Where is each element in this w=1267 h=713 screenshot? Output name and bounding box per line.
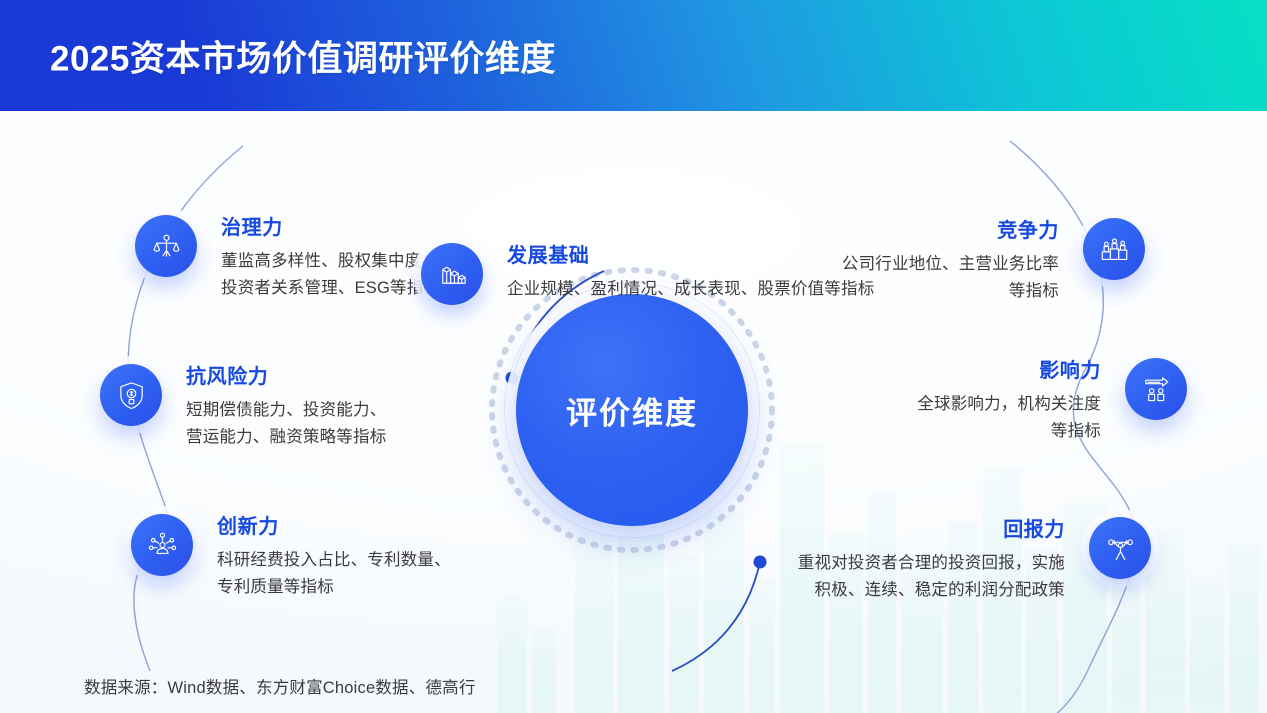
data-source-note: 数据来源：Wind数据、东方财富Choice数据、德高行 xyxy=(84,674,476,698)
node-text-influence: 影响力 全球影响力，机构关注度 等指标 xyxy=(917,358,1101,444)
hub-pointer-dot-right xyxy=(754,556,767,569)
balance-scales-icon xyxy=(150,230,183,263)
badge-innovation[interactable] xyxy=(131,514,193,576)
node-governance[interactable]: 治理力 董监高多样性、股权集中度、 投资者关系管理、ESG等指标 xyxy=(135,215,440,301)
idea-arrow-icon xyxy=(1140,373,1173,406)
node-influence[interactable]: 影响力 全球影响力，机构关注度 等指标 xyxy=(917,358,1187,444)
node-title: 影响力 xyxy=(917,360,1101,382)
diagram-canvas: 评价维度 发展基础 企业规模、盈利情况、成长表现、股票价值 xyxy=(0,111,1267,713)
hub-pointer-arc-right xyxy=(672,562,760,671)
hub-pointer-dot-left xyxy=(506,372,519,385)
node-title: 创新力 xyxy=(217,516,451,538)
node-desc: 短期偿债能力、投资能力、 营运能力、融资策略等指标 xyxy=(186,397,386,450)
node-text-innovation: 创新力 科研经费投入占比、专利数量、 专利质量等指标 xyxy=(217,514,451,600)
innovation-network-icon xyxy=(146,529,179,562)
node-title: 回报力 xyxy=(798,519,1065,541)
node-title: 治理力 xyxy=(221,217,440,239)
node-desc: 企业规模、盈利情况、成长表现、股票价值等指标 xyxy=(507,276,874,303)
header-banner: 2025资本市场价值调研评价维度 xyxy=(0,0,1267,111)
page-title: 2025资本市场价值调研评价维度 xyxy=(50,30,556,81)
badge-return[interactable] xyxy=(1089,517,1151,579)
badge-development-foundation[interactable] xyxy=(421,243,483,305)
node-desc: 科研经费投入占比、专利数量、 专利质量等指标 xyxy=(217,547,451,600)
badge-competitiveness[interactable] xyxy=(1083,218,1145,280)
node-desc: 公司行业地位、主营业务比率 等指标 xyxy=(842,251,1059,304)
podium-icon xyxy=(1098,233,1131,266)
node-title: 抗风险力 xyxy=(186,366,386,388)
node-text-competitiveness: 竞争力 公司行业地位、主营业务比率 等指标 xyxy=(842,218,1059,304)
badge-risk-resistance[interactable] xyxy=(100,364,162,426)
weightlifter-icon xyxy=(1104,532,1137,565)
node-competitiveness[interactable]: 竞争力 公司行业地位、主营业务比率 等指标 xyxy=(842,218,1145,304)
hub-label: 评价维度 xyxy=(566,388,698,433)
node-desc: 重视对投资者合理的投资回报，实施 积极、连续、稳定的利润分配政策 xyxy=(798,550,1065,603)
buildings-icon xyxy=(436,258,469,291)
node-text-development-foundation: 发展基础 企业规模、盈利情况、成长表现、股票价值等指标 xyxy=(507,243,874,303)
node-innovation[interactable]: 创新力 科研经费投入占比、专利数量、 专利质量等指标 xyxy=(131,514,451,600)
center-hub: 评价维度 xyxy=(516,294,748,526)
badge-influence[interactable] xyxy=(1125,358,1187,420)
node-text-return: 回报力 重视对投资者合理的投资回报，实施 积极、连续、稳定的利润分配政策 xyxy=(798,517,1065,603)
node-text-risk-resistance: 抗风险力 短期偿债能力、投资能力、 营运能力、融资策略等指标 xyxy=(186,364,386,450)
infographic-slide: 2025资本市场价值调研评价维度 xyxy=(0,0,1267,713)
node-development-foundation[interactable]: 发展基础 企业规模、盈利情况、成长表现、股票价值等指标 xyxy=(421,243,874,305)
node-text-governance: 治理力 董监高多样性、股权集中度、 投资者关系管理、ESG等指标 xyxy=(221,215,440,301)
node-desc: 全球影响力，机构关注度 等指标 xyxy=(917,391,1101,444)
node-return[interactable]: 回报力 重视对投资者合理的投资回报，实施 积极、连续、稳定的利润分配政策 xyxy=(798,517,1151,603)
node-risk-resistance[interactable]: 抗风险力 短期偿债能力、投资能力、 营运能力、融资策略等指标 xyxy=(100,364,386,450)
node-desc: 董监高多样性、股权集中度、 投资者关系管理、ESG等指标 xyxy=(221,248,440,301)
badge-governance[interactable] xyxy=(135,215,197,277)
shield-lock-icon xyxy=(115,379,148,412)
node-title: 发展基础 xyxy=(507,245,874,267)
node-title: 竞争力 xyxy=(842,220,1059,242)
